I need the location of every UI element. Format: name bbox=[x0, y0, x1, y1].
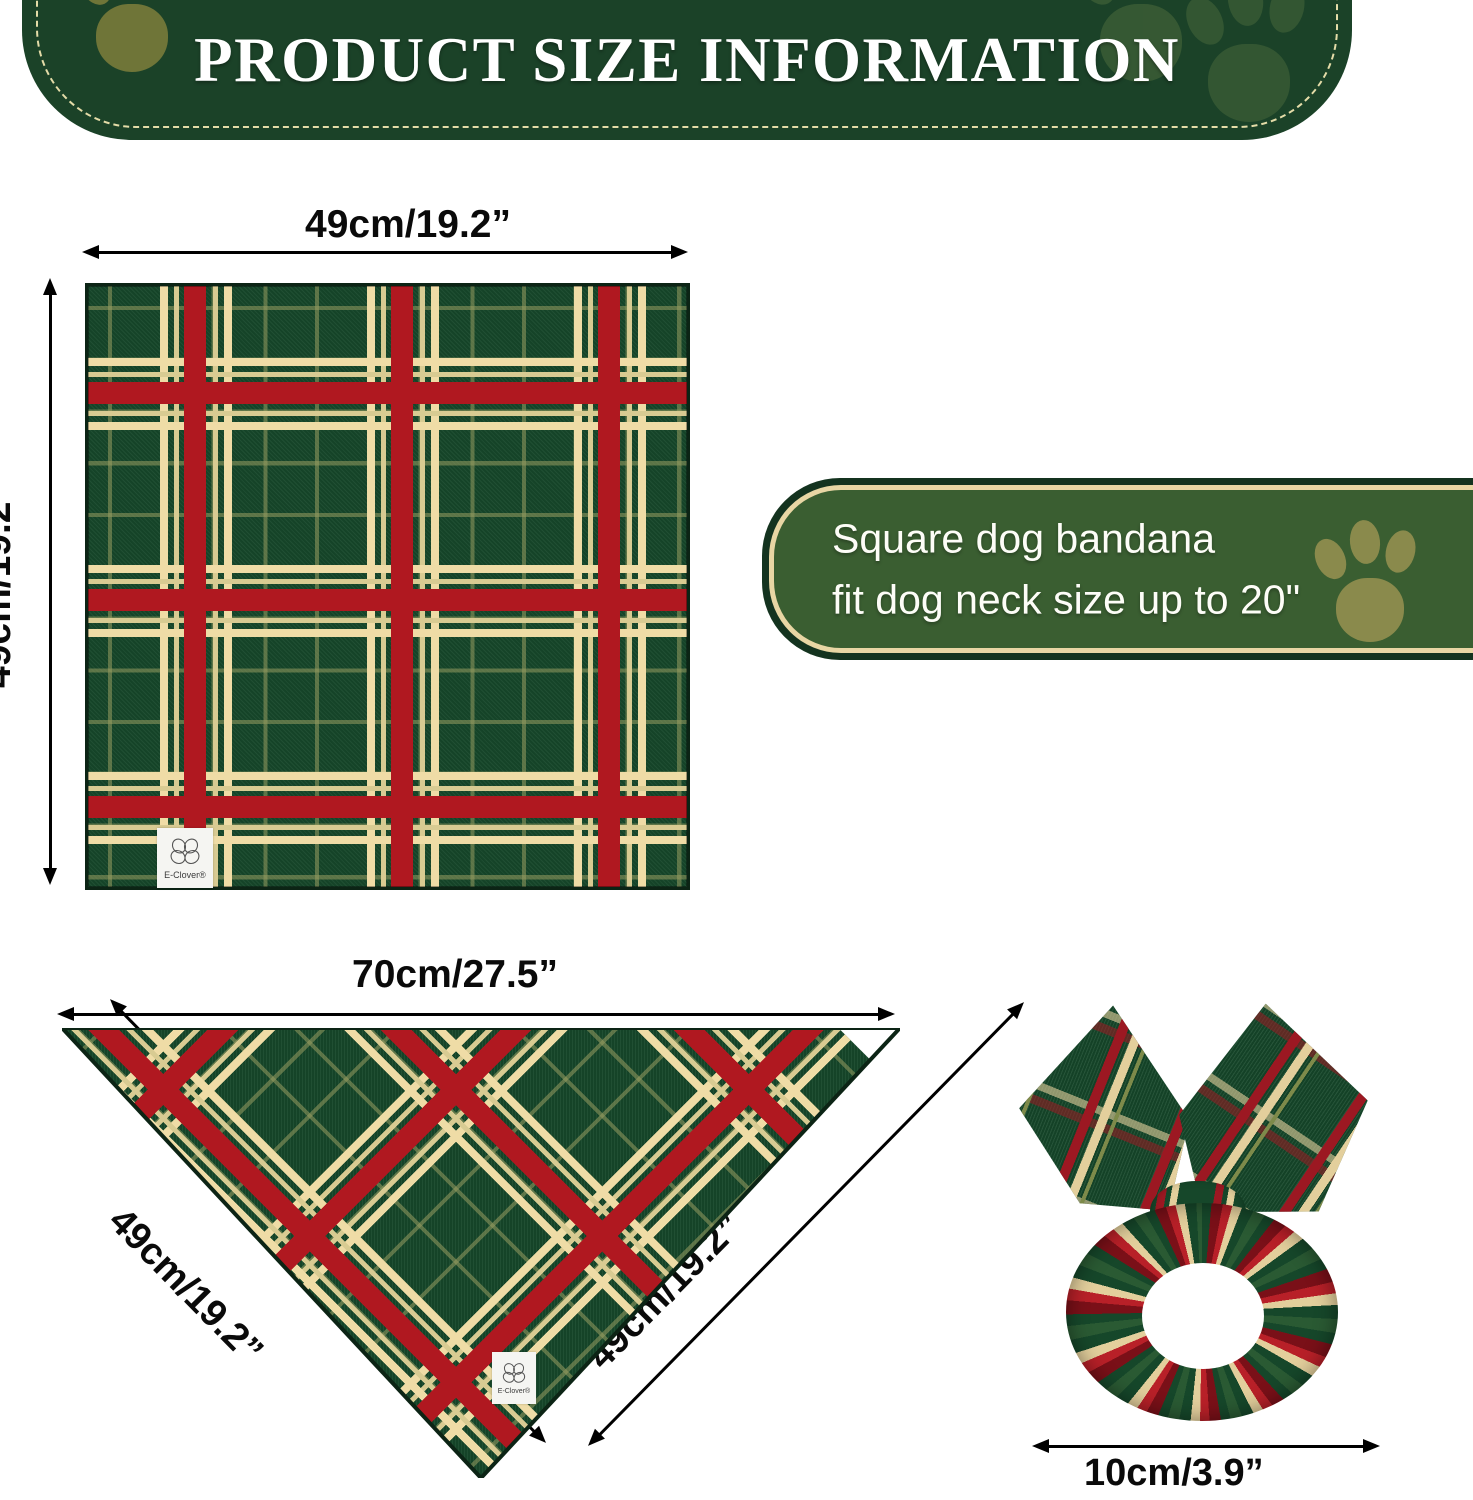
brand-tag: E-Clover® bbox=[157, 828, 213, 888]
callout-line-2: fit dog neck size up to 20" bbox=[832, 569, 1300, 630]
triangle-bandana-image bbox=[62, 1028, 900, 1478]
triangle-width-arrow bbox=[57, 1005, 895, 1023]
banner-background: PRODUCT SIZE INFORMATION bbox=[22, 0, 1352, 140]
square-height-arrow bbox=[41, 278, 59, 885]
arrow-head-right bbox=[878, 1007, 895, 1021]
arrow-head-right bbox=[671, 245, 688, 259]
scrunchie-image bbox=[1012, 1005, 1408, 1425]
brand-tag-label: E-Clover® bbox=[164, 871, 206, 880]
square-width-label: 49cm/19.2” bbox=[305, 203, 511, 247]
paw-print-icon bbox=[1312, 512, 1432, 648]
callout-line-1: Square dog bandana bbox=[832, 508, 1300, 569]
scrunchie-width-label: 10cm/3.9” bbox=[1084, 1452, 1264, 1495]
clover-icon bbox=[168, 836, 202, 868]
arrow-bar bbox=[91, 251, 679, 254]
product-size-infographic: PRODUCT SIZE INFORMATION 49cm/19.2” 49cm… bbox=[0, 0, 1473, 1500]
brand-tag: E-Clover® bbox=[492, 1352, 536, 1404]
scrunchie-ring-hole bbox=[1142, 1263, 1264, 1369]
triangle-width-label: 70cm/27.5” bbox=[352, 953, 558, 997]
header-banner: PRODUCT SIZE INFORMATION bbox=[22, 0, 1352, 140]
arrow-bar bbox=[66, 1013, 886, 1016]
arrow-bar bbox=[49, 287, 52, 876]
triangle-fabric bbox=[62, 1028, 900, 1478]
arrow-head-right bbox=[1363, 1439, 1380, 1453]
callout-inner: Square dog bandana fit dog neck size up … bbox=[769, 485, 1473, 653]
arrow-head-bottom bbox=[43, 868, 57, 885]
callout-box: Square dog bandana fit dog neck size up … bbox=[762, 478, 1473, 660]
brand-tag-label: E-Clover® bbox=[498, 1388, 530, 1395]
callout-text: Square dog bandana fit dog neck size up … bbox=[832, 508, 1300, 629]
page-title: PRODUCT SIZE INFORMATION bbox=[22, 24, 1352, 97]
square-bandana-image bbox=[85, 283, 690, 890]
clover-icon bbox=[501, 1361, 527, 1386]
triangle-clip bbox=[62, 1028, 900, 1478]
square-height-label: 49cm/19.2” bbox=[0, 482, 20, 688]
arrow-bar bbox=[1041, 1445, 1371, 1448]
